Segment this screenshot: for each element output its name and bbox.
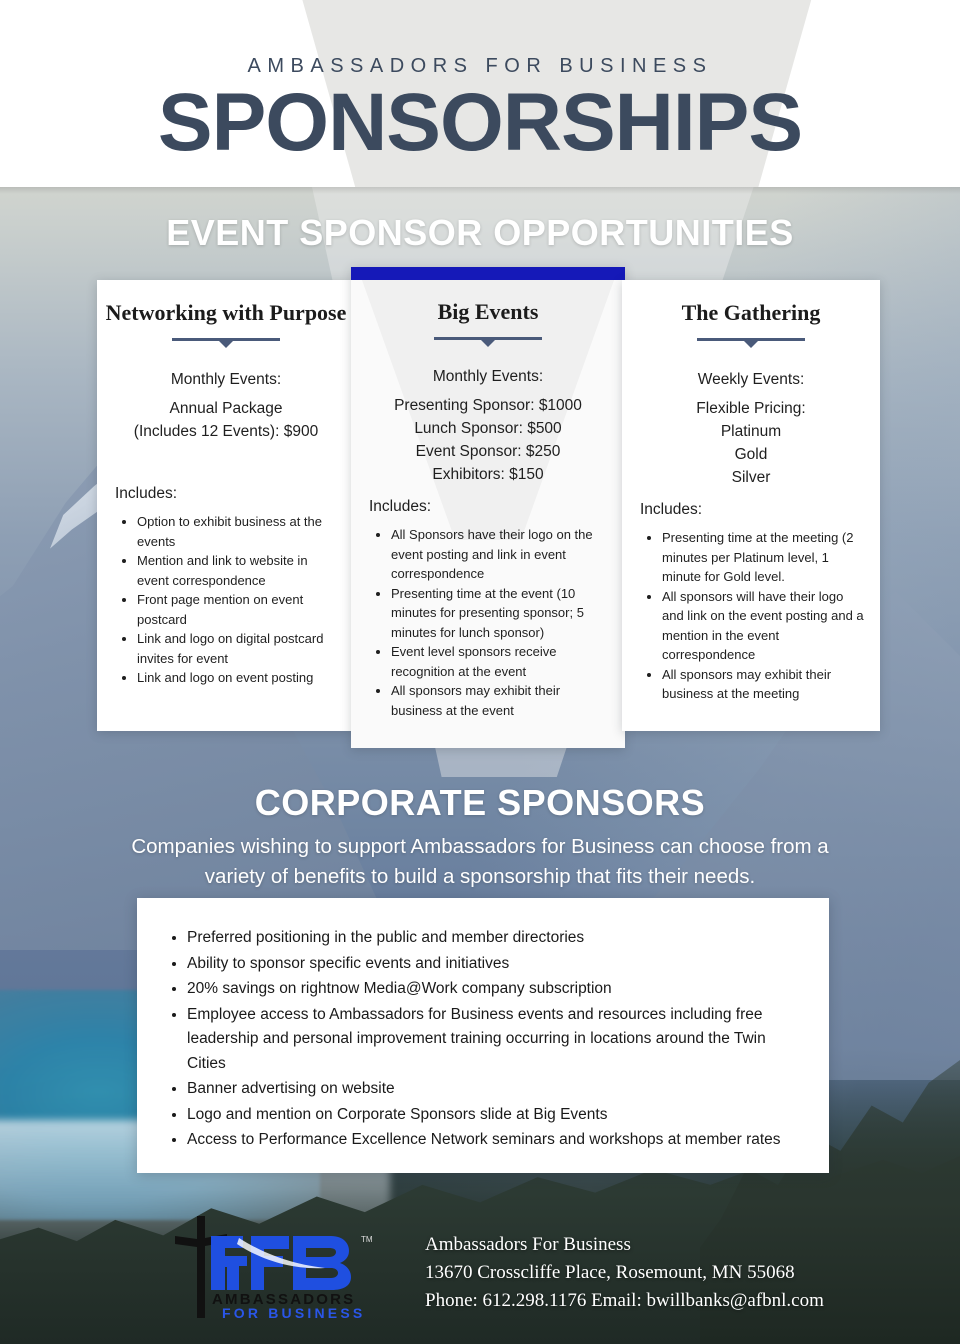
card-title: Networking with Purpose bbox=[97, 280, 355, 326]
list-item: Presenting time at the meeting (2 minute… bbox=[662, 528, 866, 587]
pricing-block: Monthly Events: Annual Package (Includes… bbox=[97, 368, 355, 443]
event-section-title: EVENT SPONSOR OPPORTUNITIES bbox=[0, 212, 960, 254]
list-item: Presenting time at the event (10 minutes… bbox=[391, 584, 611, 643]
pricing-heading: Monthly Events: bbox=[351, 365, 625, 388]
list-item: Employee access to Ambassadors for Busin… bbox=[187, 1003, 795, 1077]
corporate-benefit-list: Preferred positioning in the public and … bbox=[137, 898, 829, 1153]
card-title: Big Events bbox=[351, 267, 625, 325]
pricing-line: Silver bbox=[622, 466, 880, 489]
sponsor-card-networking-with-purpose[interactable]: Networking with Purpose Monthly Events: … bbox=[97, 280, 355, 731]
sponsor-card-big-events[interactable]: Big Events Monthly Events: Presenting Sp… bbox=[351, 267, 625, 748]
pricing-line: Lunch Sponsor: $500 bbox=[351, 417, 625, 440]
benefit-list: Presenting time at the meeting (2 minute… bbox=[622, 528, 880, 704]
pricing-line: Event Sponsor: $250 bbox=[351, 440, 625, 463]
list-item: Mention and link to website in event cor… bbox=[137, 551, 341, 590]
organization-name: Ambassadors For Business bbox=[425, 1231, 905, 1259]
afb-logo: AMBASSADORS FOR BUSINESS TM bbox=[165, 1212, 380, 1322]
list-item: All Sponsors have their logo on the even… bbox=[391, 525, 611, 584]
includes-label: Includes: bbox=[97, 485, 355, 503]
pricing-block: Monthly Events: Presenting Sponsor: $100… bbox=[351, 365, 625, 486]
pricing-heading: Monthly Events: bbox=[97, 368, 355, 391]
list-item: Preferred positioning in the public and … bbox=[187, 926, 795, 951]
benefit-list: Option to exhibit business at the events… bbox=[97, 512, 355, 688]
includes-label: Includes: bbox=[351, 498, 625, 516]
card-title: The Gathering bbox=[622, 280, 880, 326]
title-divider-ornament bbox=[697, 338, 805, 348]
corporate-benefits-panel: Preferred positioning in the public and … bbox=[137, 898, 829, 1173]
svg-text:FOR BUSINESS: FOR BUSINESS bbox=[222, 1305, 365, 1321]
title-divider-ornament bbox=[172, 338, 280, 348]
list-item: Banner advertising on website bbox=[187, 1077, 795, 1102]
list-item: All sponsors will have their logo and li… bbox=[662, 587, 866, 665]
page-title: SPONSORSHIPS bbox=[0, 82, 960, 164]
pricing-line: (Includes 12 Events): $900 bbox=[97, 420, 355, 443]
pricing-block: Weekly Events: Flexible Pricing: Platinu… bbox=[622, 368, 880, 489]
includes-label: Includes: bbox=[622, 501, 880, 519]
address-line: 13670 Crosscliffe Place, Rosemount, MN 5… bbox=[425, 1259, 905, 1287]
pricing-line: Presenting Sponsor: $1000 bbox=[351, 394, 625, 417]
list-item: Front page mention on event postcard bbox=[137, 590, 341, 629]
pricing-line: Exhibitors: $150 bbox=[351, 463, 625, 486]
corporate-section-title: CORPORATE SPONSORS bbox=[0, 782, 960, 824]
list-item: Event level sponsors receive recognition… bbox=[391, 642, 611, 681]
organization-kicker: AMBASSADORS FOR BUSINESS bbox=[0, 55, 960, 78]
header-shadow-divider bbox=[0, 187, 960, 194]
list-item: All sponsors may exhibit their business … bbox=[391, 681, 611, 720]
list-item: Ability to sponsor specific events and i… bbox=[187, 952, 795, 977]
list-item: Link and logo on event posting bbox=[137, 668, 341, 688]
list-item: Link and logo on digital postcard invite… bbox=[137, 629, 341, 668]
pricing-line: Flexible Pricing: bbox=[622, 397, 880, 420]
list-item: Logo and mention on Corporate Sponsors s… bbox=[187, 1103, 795, 1128]
pricing-line: Platinum bbox=[622, 420, 880, 443]
pricing-heading: Weekly Events: bbox=[622, 368, 880, 391]
list-item: Access to Performance Excellence Network… bbox=[187, 1128, 795, 1153]
list-item: All sponsors may exhibit their business … bbox=[662, 665, 866, 704]
sponsor-card-the-gathering[interactable]: The Gathering Weekly Events: Flexible Pr… bbox=[622, 280, 880, 731]
list-item: 20% savings on rightnow Media@Work compa… bbox=[187, 977, 795, 1002]
corporate-section-subtitle: Companies wishing to support Ambassadors… bbox=[130, 832, 830, 892]
contact-block: Ambassadors For Business 13670 Crossclif… bbox=[425, 1231, 905, 1315]
pricing-line: Annual Package bbox=[97, 397, 355, 420]
list-item: Option to exhibit business at the events bbox=[137, 512, 341, 551]
phone-email-line: Phone: 612.298.1176 Email: bwillbanks@af… bbox=[425, 1287, 905, 1315]
pricing-line: Gold bbox=[622, 443, 880, 466]
poster-header: AMBASSADORS FOR BUSINESS SPONSORSHIPS bbox=[0, 0, 960, 187]
title-divider-ornament bbox=[434, 337, 542, 347]
benefit-list: All Sponsors have their logo on the even… bbox=[351, 525, 625, 720]
svg-text:TM: TM bbox=[361, 1235, 373, 1244]
